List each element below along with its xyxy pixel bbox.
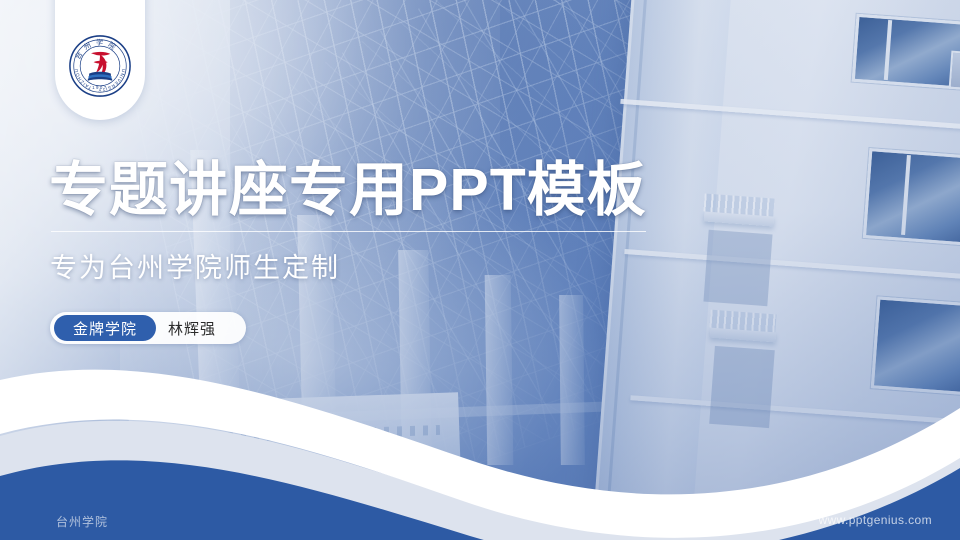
- title-divider: [51, 231, 646, 232]
- presentation-title-slide: 台州学院 UNIVERSITY TAIZHOU 1907 专题讲座专用PPT模板…: [0, 0, 960, 540]
- page-subtitle: 专为台州学院师生定制: [50, 246, 340, 285]
- badge-tag: 金牌学院: [54, 315, 156, 341]
- svg-text:1907: 1907: [92, 85, 107, 90]
- university-logo-icon: 台州学院 UNIVERSITY TAIZHOU 1907: [68, 34, 132, 98]
- bottom-wave-decoration: [0, 350, 960, 540]
- presenter-name: 林辉强: [168, 312, 216, 344]
- footer-website[interactable]: www.pptgenius.com: [818, 513, 932, 527]
- page-title: 专题讲座专用PPT模板: [49, 160, 709, 222]
- footer-institution: 台州学院: [56, 513, 108, 530]
- presenter-badge[interactable]: 金牌学院 林辉强: [50, 312, 246, 344]
